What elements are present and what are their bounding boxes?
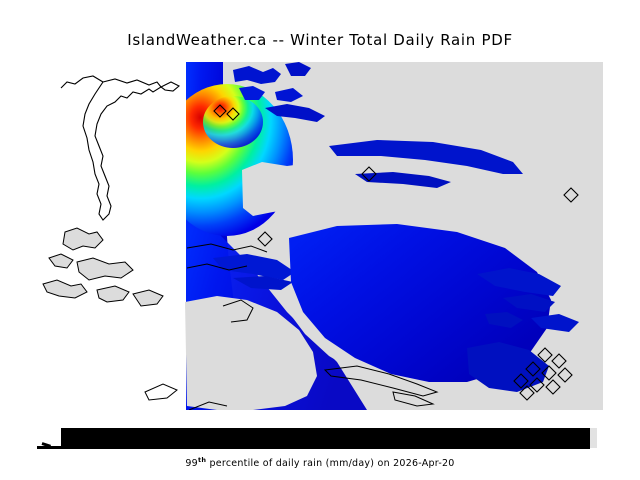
map-lower-left-nodata [37, 402, 186, 410]
colorbar-gradient[interactable] [61, 428, 590, 448]
figure-caption: 99th percentile of daily rain (mm/day) o… [0, 456, 640, 469]
caption-percentile-number: 99 [185, 458, 198, 469]
colorbar-pointer-line [37, 446, 590, 449]
rain-field-hotspot-north [203, 96, 263, 148]
colorbar[interactable] [37, 425, 603, 451]
map-panel[interactable] [37, 62, 603, 410]
map-canvas[interactable] [37, 62, 603, 410]
caption-percentile-suffix: th [198, 456, 206, 464]
weather-map-figure: IslandWeather.ca -- Winter Total Daily R… [0, 0, 640, 480]
colorbar-max-tip [590, 428, 597, 448]
page-title: IslandWeather.ca -- Winter Total Daily R… [0, 31, 640, 49]
caption-description: percentile of daily rain (mm/day) on 202… [206, 458, 454, 469]
